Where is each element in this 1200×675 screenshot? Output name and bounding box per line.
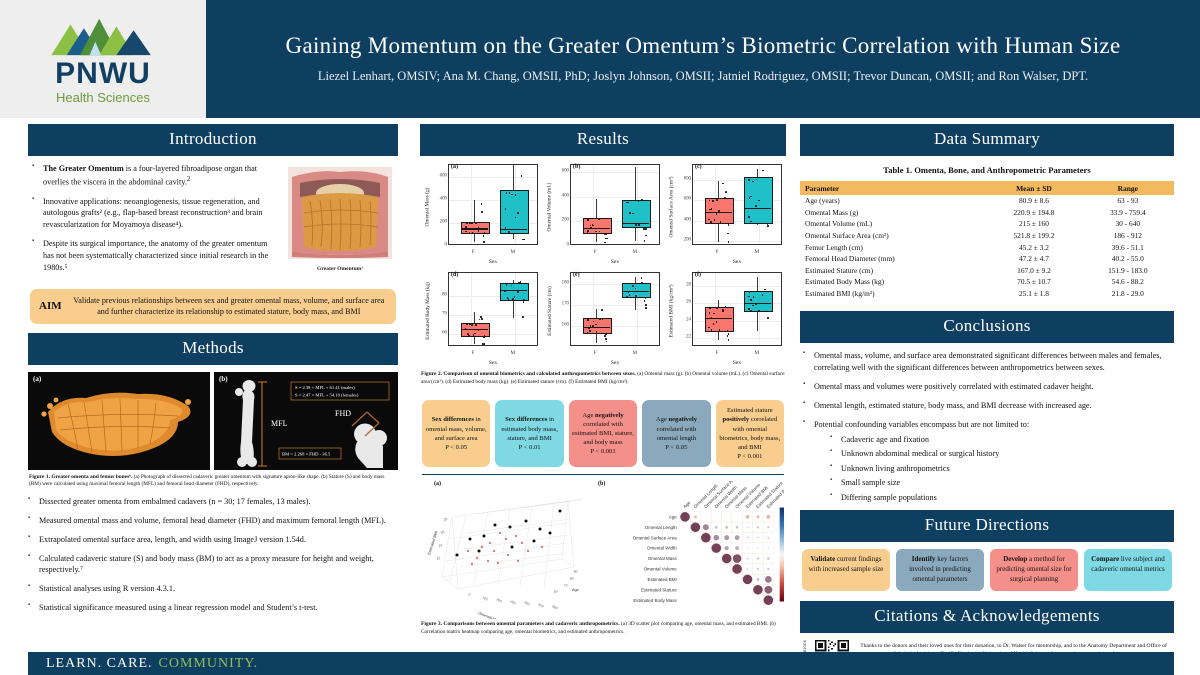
heatmap-row-label: Estimated Body Mass [633, 598, 677, 603]
data-point [755, 303, 757, 305]
footer-tagline-2: COMMUNITY. [153, 656, 259, 672]
results-boxplot-grid: Omental Mass (g)(a)0200400600FMSexOmenta… [420, 156, 786, 366]
data-point [523, 239, 525, 241]
cell-mean-sd: 521.8 ± 199.2 [986, 230, 1081, 242]
data-point [632, 285, 634, 287]
svg-text:22: 22 [436, 556, 441, 561]
scatter3d-zlabel: Age [572, 588, 579, 592]
heatmap-cell [747, 548, 748, 549]
y-axis-ticks: 22242628 [677, 270, 692, 346]
svg-text:80: 80 [569, 577, 574, 582]
heatmap-cell [747, 527, 749, 529]
data-point [484, 343, 486, 345]
heatmap-cell [757, 537, 759, 539]
plot-area [692, 272, 782, 346]
data-point [505, 227, 507, 229]
omentum-photo-caption: Greater Omentum¹ [286, 266, 394, 272]
heatmap-cell [765, 576, 772, 583]
table-title: Table 1. Omenta, Bone, and Anthropometri… [800, 165, 1174, 175]
data-point [764, 289, 766, 291]
scatter3d-ylabel: Estimated BMI [427, 531, 438, 556]
panel-tag-fig3a: (a) [434, 481, 441, 487]
y-axis-label: Omental Volume (mL) [544, 162, 555, 251]
cell-parameter: Femur Length (cm) [800, 241, 986, 253]
data-point [750, 310, 752, 312]
list-item: Unknown abdominal medical or surgical hi… [830, 448, 1171, 459]
data-point [727, 335, 729, 337]
methods-figure: (a) ( [28, 372, 398, 470]
results-highlight-pills: Sex differences in omental mass, volume,… [420, 393, 786, 467]
heatmap-cell [757, 548, 759, 550]
data-point [605, 333, 607, 335]
figure1-caption: Figure 1. Greater omenta and femur bones… [29, 474, 397, 489]
list-item: Differing sample populations [830, 492, 1171, 503]
plot-area [570, 164, 660, 245]
list-item: Calculated cadaveric stature (S) and bod… [28, 553, 398, 577]
table-row: Age (years)80.9 ± 8.663 - 93 [800, 195, 1174, 207]
data-point [475, 228, 477, 230]
heatmap-cell [694, 516, 697, 519]
column-header-parameter: Parameter [800, 181, 986, 195]
data-point [587, 332, 589, 334]
future-direction-box: Develop a method for predicting omental … [990, 549, 1078, 590]
future-direction-box: Identify key factors involved in predict… [896, 549, 984, 590]
data-point [601, 309, 603, 311]
svg-text:500: 500 [538, 603, 545, 609]
left-column: Introduction The Greater Omentum is a fo… [28, 124, 398, 621]
heatmap-cell [725, 546, 729, 550]
plot-area [448, 272, 538, 346]
x-tick: F [472, 350, 475, 356]
heatmap-cell [713, 535, 719, 541]
y-axis-ticks: 160170180 [555, 270, 570, 346]
data-point [767, 317, 769, 319]
cell-mean-sd: 167.0 ± 9.2 [986, 265, 1081, 277]
data-point [606, 238, 608, 240]
heatmap-cell [735, 536, 740, 541]
section-header-citations: Citations & Acknowledgements [800, 601, 1174, 633]
data-point [481, 318, 483, 320]
median-line [744, 303, 771, 304]
data-point [517, 212, 519, 214]
cell-parameter: Estimated Body Mass (kg) [800, 276, 986, 288]
list-item: Innovative applications: neoangiogenesis… [32, 196, 278, 232]
data-point [626, 296, 628, 298]
result-pill-text: Sex differences in estimated body mass, … [498, 415, 560, 451]
data-point [604, 335, 606, 337]
methods-bullets: Dissected greater omenta from embalmed c… [28, 496, 398, 614]
y-tick: 26 [686, 300, 691, 305]
heatmap-cell [703, 525, 709, 531]
table-row: Estimated BMI (kg/m²)25.1 ± 1.821.8 - 29… [800, 288, 1174, 300]
heatmap-cell [735, 547, 739, 551]
data-point [592, 325, 594, 327]
cell-parameter: Omental Surface Area (cm²) [800, 230, 986, 242]
x-axis-ticks: FM [448, 249, 538, 257]
table-row: Estimated Stature (cm)167.0 ± 9.2151.9 -… [800, 265, 1174, 277]
data-point [478, 329, 480, 331]
column-header-mean-sd: Mean ± SD [986, 181, 1081, 195]
x-tick: F [594, 350, 597, 356]
svg-text:26: 26 [440, 530, 445, 535]
x-tick: M [632, 350, 637, 356]
plot-area [570, 272, 660, 346]
data-point [722, 183, 724, 185]
omentum-illustration-icon [288, 167, 392, 259]
data-point [641, 282, 643, 284]
boxplot-f: Estimated BMI (kg/cm²)(f)22242628FMSex [666, 270, 783, 366]
panel-tag: (c) [695, 164, 702, 170]
heatmap-cell [746, 537, 748, 539]
heatmap-cell [725, 526, 728, 529]
conclusions-sub-bullets: Cadaveric age and fixationUnknown abdomi… [814, 434, 1171, 503]
svg-text:60: 60 [553, 590, 558, 595]
fhd-label: FHD [335, 409, 351, 418]
panel-tag-fig3b: (b) [598, 481, 605, 487]
list-item: Statistical analyses using R version 4.3… [28, 583, 398, 595]
list-item: Omental length, estimated stature, body … [803, 400, 1171, 412]
data-point [507, 297, 509, 299]
list-item: Statistical significance measured using … [28, 602, 398, 614]
svg-text:100: 100 [482, 596, 489, 602]
cell-mean-sd: 47.2 ± 4.7 [986, 253, 1081, 265]
future-direction-box: Validate current findings with increased… [802, 549, 890, 590]
cell-range: 40.2 - 55.0 [1082, 253, 1174, 265]
y-tick: 24 [686, 317, 691, 322]
y-tick: 180 [562, 280, 569, 285]
figure2-caption: Figure 2. Comparison of omental biometri… [421, 371, 785, 386]
cell-range: 21.8 - 29.0 [1082, 288, 1174, 300]
svg-text:200: 200 [496, 598, 503, 604]
poster-header: PNWU Health Sciences Gaining Momentum on… [0, 0, 1200, 118]
cell-mean-sd: 80.9 ± 8.6 [986, 195, 1081, 207]
cell-parameter: Omental Volume (mL) [800, 218, 986, 230]
x-tick: M [510, 350, 515, 356]
y-axis-ticks: 0200400600 [555, 162, 570, 245]
median-line [622, 291, 649, 292]
x-axis-label: Sex [692, 360, 782, 366]
data-point [472, 232, 474, 234]
heatmap-column-label: Age [682, 500, 692, 510]
heatmap-cell [756, 516, 759, 519]
cell-parameter: Femoral Head Diameter (mm) [800, 253, 986, 265]
median-line [500, 229, 527, 230]
data-point [635, 224, 637, 226]
data-point [645, 307, 647, 309]
heatmap-cell [743, 575, 753, 585]
data-point [517, 291, 519, 293]
data-point [483, 336, 485, 338]
data-point [748, 216, 750, 218]
y-tick: 22 [686, 335, 691, 340]
data-point [467, 333, 469, 335]
mountain-logo-icon [44, 13, 162, 57]
aim-text: Validate previous relationships between … [71, 295, 387, 318]
result-pill: Age negatively correlated with estimated… [569, 400, 637, 467]
heatmap-cell [691, 523, 701, 533]
middle-column: Results Omental Mass (g)(a)0200400600FMS… [420, 124, 786, 644]
data-point [762, 170, 764, 172]
svg-text:90: 90 [573, 570, 578, 575]
heatmap-cell [757, 568, 759, 570]
svg-text:400: 400 [524, 601, 531, 607]
data-point [471, 223, 473, 225]
y-tick: 170 [562, 301, 569, 306]
heatmap-cell [726, 517, 727, 518]
data-point [748, 308, 750, 310]
heatmap-row-label: Omental Length [645, 525, 677, 530]
right-column: Data Summary Table 1. Omenta, Bone, and … [800, 124, 1174, 674]
data-point [628, 291, 630, 293]
section-header-future-directions: Future Directions [800, 510, 1174, 542]
scatter3d-panel: (a) [422, 481, 588, 619]
data-point [605, 338, 607, 340]
y-tick: 600 [684, 197, 691, 202]
result-pill-text: Sex differences in omental mass, volume,… [425, 415, 487, 451]
y-axis-ticks: 200400600800 [677, 162, 692, 245]
section-header-methods: Methods [28, 333, 398, 365]
future-direction-boxes: Validate current findings with increased… [800, 542, 1174, 590]
data-point [712, 200, 714, 202]
svg-text:300: 300 [510, 600, 517, 606]
cell-mean-sd: 220.9 ± 194.8 [986, 207, 1081, 219]
svg-text:28: 28 [443, 517, 448, 522]
heatmap-cell [757, 526, 759, 528]
heatmap-cell [716, 517, 717, 518]
heatmap-cell [753, 585, 763, 595]
panel-tag: (f) [695, 272, 701, 278]
table-header-row: Parameter Mean ± SD Range [800, 181, 1174, 195]
data-point [748, 296, 750, 298]
data-point [466, 222, 468, 224]
table-row: Omental Volume (mL)215 ± 16030 - 640 [800, 218, 1174, 230]
page-title: Gaining Momentum on the Greater Omentum’… [286, 33, 1121, 59]
data-point [590, 227, 592, 229]
figure1-caption-bold: Figure 1. Greater omenta and femur bones… [29, 474, 132, 480]
y-tick: 200 [440, 219, 447, 224]
panel-tag: (b) [573, 164, 580, 170]
omentum-photo: Greater Omentum¹ [286, 163, 394, 281]
heatmap-cell [764, 596, 774, 606]
x-axis-label: Sex [448, 259, 538, 265]
y-tick: 60 [442, 330, 447, 335]
data-point [727, 233, 729, 235]
data-point [643, 228, 645, 230]
heatmap-row-label: Omental Surface Area [633, 536, 678, 541]
data-point [629, 212, 631, 214]
data-point [481, 211, 483, 213]
x-tick: M [754, 350, 759, 356]
section-header-data-summary: Data Summary [800, 124, 1174, 156]
data-point [728, 224, 730, 226]
data-point [709, 307, 711, 309]
table-row: Femur Length (cm)45.2 ± 3.239.6 - 51.1 [800, 241, 1174, 253]
heatmap-cell [767, 558, 770, 561]
heatmap-cell [701, 533, 711, 543]
table-row: Estimated Body Mass (kg)70.5 ± 10.754.6 … [800, 276, 1174, 288]
heatmap-row-label: Omental Volume [644, 567, 678, 572]
methods-figure-a: (a) [28, 372, 210, 470]
heatmap-cell [736, 526, 739, 529]
data-point [755, 205, 757, 207]
x-axis-ticks: FM [570, 350, 660, 358]
heatmap-cell [764, 586, 772, 594]
cell-range: 63 - 93 [1082, 195, 1174, 207]
result-pill-text: Age negatively correlated with estimated… [572, 411, 634, 456]
panel-tag-b: (b) [219, 375, 228, 383]
data-summary-table: Parameter Mean ± SD Range Age (years)80.… [800, 181, 1174, 299]
data-point [596, 331, 598, 333]
correlation-matrix-plot: AgeOmental LengthOmental Surface AreaOme… [594, 481, 784, 622]
heatmap-colorbar [780, 508, 784, 602]
introduction-bullets: The Greater Omentum is a four-layered fi… [32, 163, 278, 281]
y-axis-ticks: 0200400600 [433, 162, 448, 245]
result-pill: Sex differences in omental mass, volume,… [422, 400, 490, 467]
data-point [469, 222, 471, 224]
y-tick: 600 [440, 173, 447, 178]
data-point [521, 175, 523, 177]
data-point [465, 226, 467, 228]
x-tick: F [472, 249, 475, 255]
figure3-caption: Figure 3. Comparisons between omental pa… [421, 621, 785, 636]
data-point [722, 309, 724, 311]
heatmap-cell [767, 527, 769, 529]
data-point [606, 341, 608, 343]
y-tick: 400 [562, 193, 569, 198]
data-point [588, 319, 590, 321]
y-tick: 800 [684, 177, 691, 182]
data-point [483, 235, 485, 237]
data-point [484, 241, 486, 243]
future-direction-box: Compare live subject and cadaveric oment… [1084, 549, 1172, 590]
svg-text:70: 70 [563, 584, 568, 589]
heatmap-cell [767, 537, 769, 539]
introduction-body: The Greater Omentum is a four-layered fi… [28, 156, 398, 281]
y-tick: 400 [684, 217, 691, 222]
data-point [471, 324, 473, 326]
list-item: Measured omental mass and volume, femora… [28, 515, 398, 527]
data-point [758, 310, 760, 312]
box [622, 200, 651, 228]
median-line [583, 327, 610, 328]
svg-text:0: 0 [468, 593, 472, 597]
heatmap-row-label: Omental Mass [648, 557, 678, 562]
data-point [713, 323, 715, 325]
heatmap-cell [756, 578, 759, 581]
panel-tag: (d) [451, 272, 458, 278]
logo-wordmark: PNWU [55, 59, 151, 89]
x-tick: F [716, 350, 719, 356]
cell-mean-sd: 45.2 ± 3.2 [986, 241, 1081, 253]
data-point [599, 319, 601, 321]
cell-parameter: Estimated Stature (cm) [800, 265, 986, 277]
methods-figure-b: (b) MFL [214, 372, 398, 470]
boxplot-a: Omental Mass (g)(a)0200400600FMSex [422, 162, 539, 265]
boxplot-c: Omental Surface Area (cm²)(c)20040060080… [666, 162, 783, 265]
median-line [744, 208, 771, 209]
data-point [632, 213, 634, 215]
data-point [767, 225, 769, 227]
heatmap-cell [747, 568, 749, 570]
data-point [465, 328, 467, 330]
data-point [645, 228, 647, 230]
x-tick: F [594, 249, 597, 255]
list-item: Small sample size [830, 477, 1171, 488]
data-point [589, 330, 591, 332]
data-point [710, 221, 712, 223]
data-point [752, 181, 754, 183]
plot-area [448, 164, 538, 245]
x-axis-ticks: FM [692, 249, 782, 257]
heatmap-row-label: Omental Width [647, 546, 677, 551]
data-point [504, 290, 506, 292]
heatmap-cell [711, 544, 721, 554]
footer-tagline-1: LEARN. CARE. [28, 656, 153, 672]
title-block: Gaining Momentum on the Greater Omentum’… [206, 0, 1200, 118]
list-item-label: Potential confounding variables encompas… [814, 420, 1029, 429]
x-axis-ticks: FM [448, 350, 538, 358]
data-point [711, 329, 713, 331]
y-tick: 200 [684, 237, 691, 242]
data-point [604, 233, 606, 235]
panel-tag: (a) [451, 164, 458, 170]
list-item: Unknown living anthropometrics [830, 463, 1171, 474]
list-item: Potential confounding variables encompas… [803, 419, 1171, 503]
heatmap-cell [722, 554, 732, 564]
y-axis-label: Estimated Body Mass (kg) [422, 270, 433, 352]
y-axis-label: Omental Mass (g) [422, 162, 433, 251]
cell-range: 151.9 - 183.0 [1082, 265, 1174, 277]
data-point [718, 210, 720, 212]
list-item: The Greater Omentum is a four-layered fi… [32, 163, 278, 189]
x-tick: M [632, 249, 637, 255]
data-point [641, 199, 643, 201]
mfl-label: MFL [271, 419, 288, 428]
data-point [645, 304, 647, 306]
box [500, 283, 529, 300]
panel-tag: (e) [573, 272, 580, 278]
y-tick: 0 [567, 243, 569, 248]
y-axis-label: Estimated BMI (kg/cm²) [666, 270, 677, 352]
boxplot-d: Estimated Body Mass (kg)(d)607080FMSex [422, 270, 539, 366]
table-row: Femoral Head Diameter (mm)47.2 ± 4.740.2… [800, 253, 1174, 265]
aim-box: AIM Validate previous relationships betw… [30, 289, 396, 324]
conclusions-bullets: Omental mass, volume, and surface area d… [800, 343, 1174, 503]
data-point [520, 164, 522, 165]
heatmap-cell [705, 517, 707, 519]
heatmap-cell [768, 548, 769, 549]
heatmap-cell [746, 516, 750, 520]
data-point [604, 242, 606, 244]
data-point [523, 301, 525, 303]
heatmap-row-label: Estimated BMI [648, 577, 677, 582]
data-point [641, 277, 643, 279]
heatmap-cell [680, 513, 690, 523]
result-pill-text: Age negatively correlated with omental l… [645, 415, 707, 451]
heatmap-cell [767, 568, 769, 570]
cell-mean-sd: 25.1 ± 1.8 [986, 288, 1081, 300]
svg-text:600: 600 [552, 605, 559, 611]
y-tick: 600 [562, 169, 569, 174]
heatmap-row-label: Estimated Stature [641, 588, 677, 593]
x-axis-label: Sex [448, 360, 538, 366]
data-point [724, 197, 726, 199]
cell-range: 54.6 - 88.2 [1082, 276, 1174, 288]
section-header-conclusions: Conclusions [800, 311, 1174, 343]
data-point [750, 299, 752, 301]
figure3-caption-bold: Figure 3. Comparisons between omental pa… [421, 621, 620, 627]
data-point [475, 324, 477, 326]
